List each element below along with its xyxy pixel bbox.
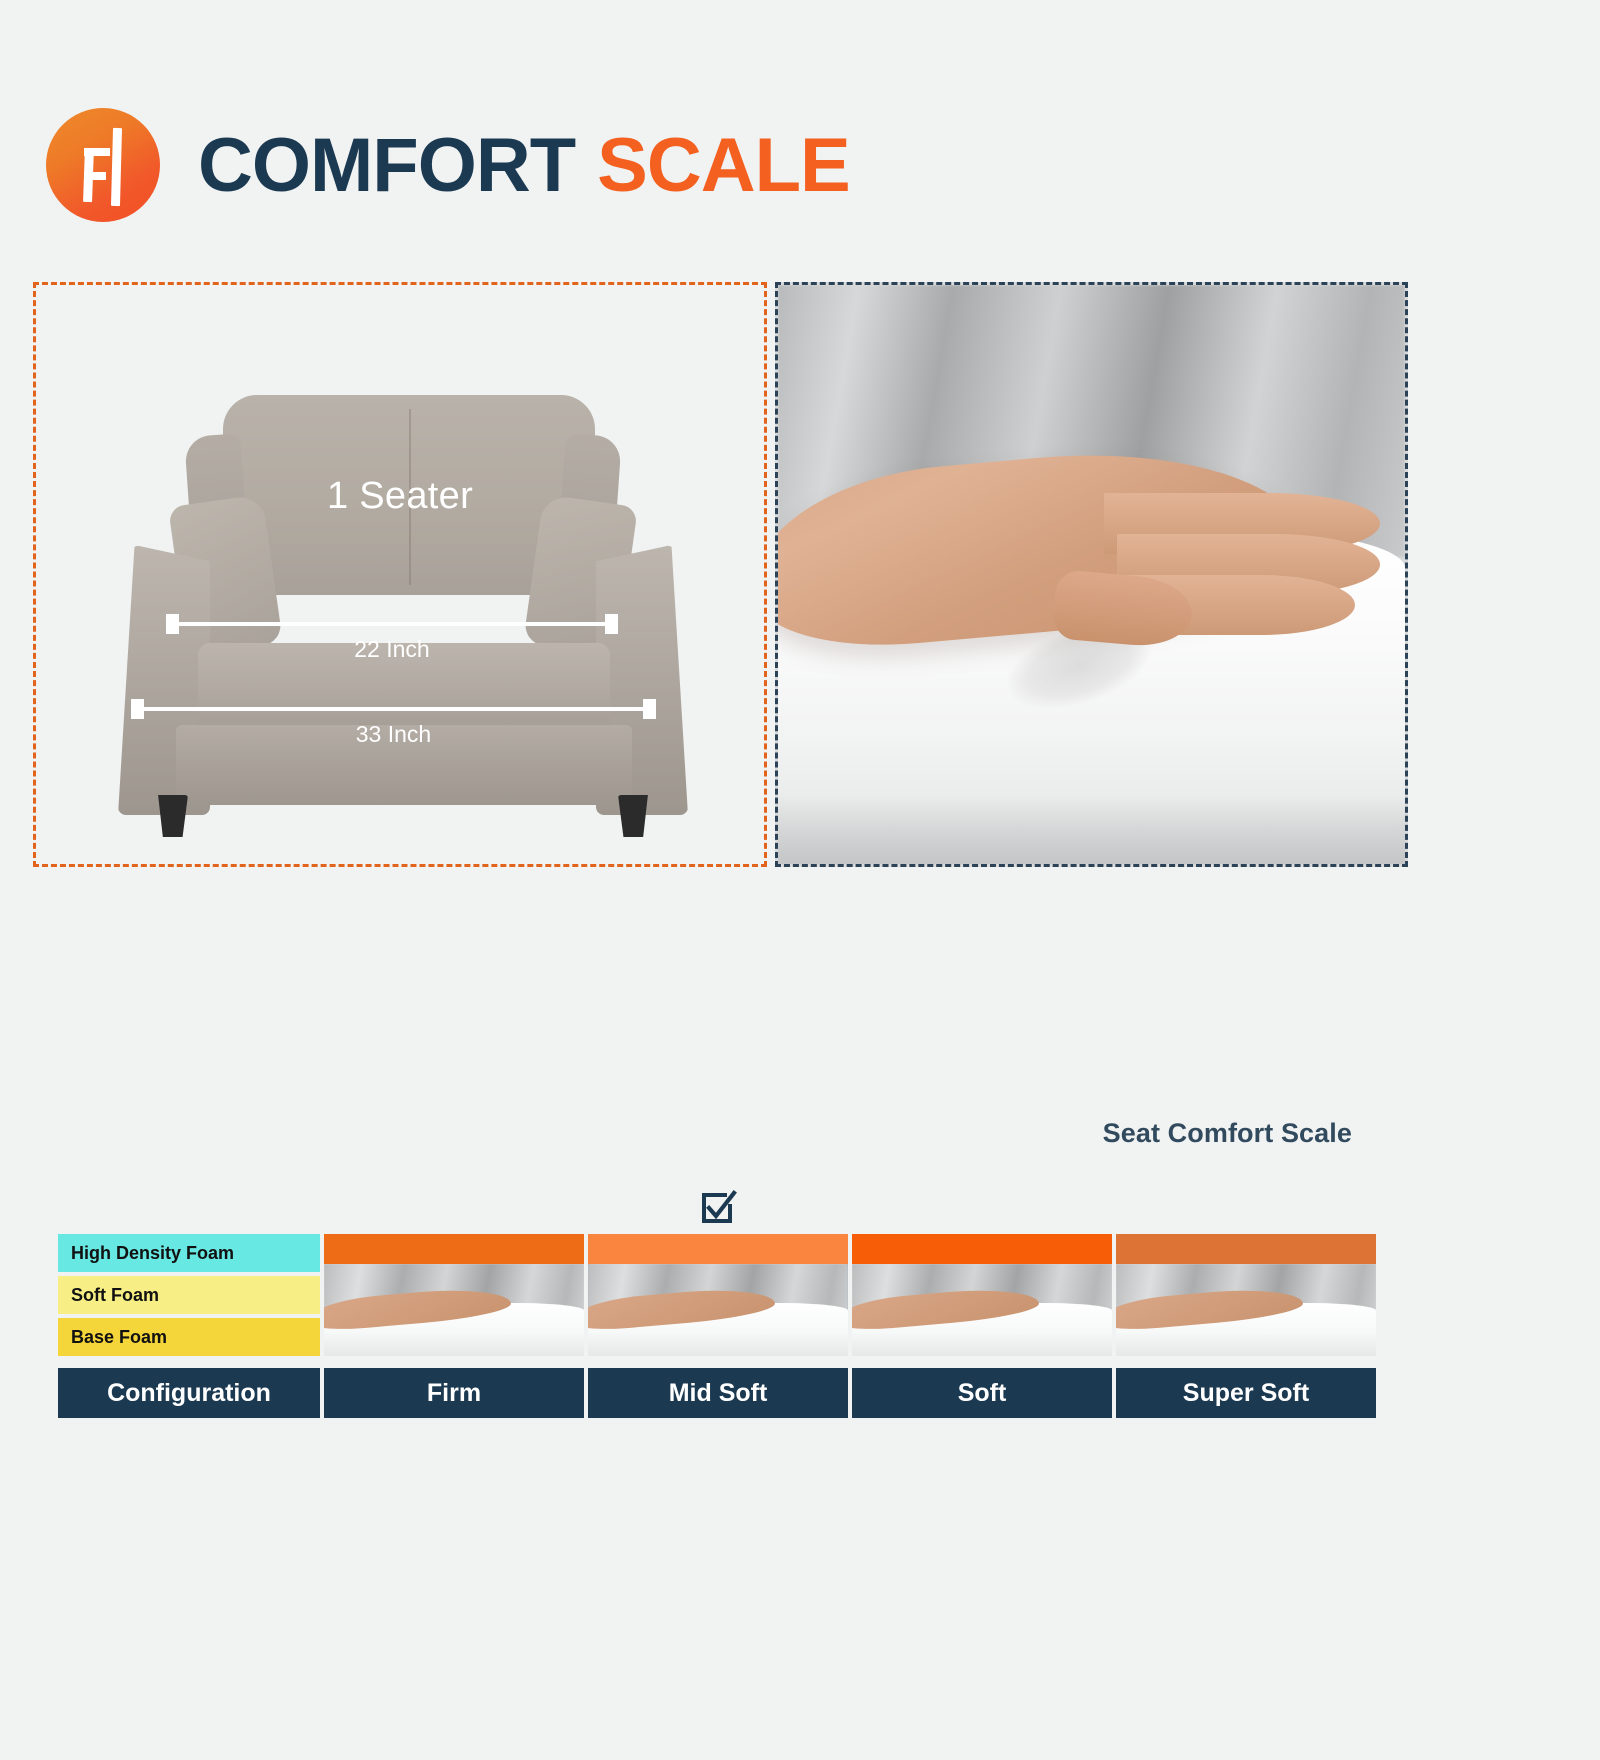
legend-item-base-foam: Base Foam — [58, 1318, 320, 1356]
hand-pressing-foam-image — [778, 285, 1405, 864]
seater-label: 1 Seater — [36, 475, 764, 518]
option-band-soft — [852, 1234, 1112, 1264]
comfort-scale-table: High Density Foam Soft Foam Base Foam — [58, 1234, 1376, 1418]
option-band-mid-soft — [588, 1234, 848, 1264]
option-labels: Firm Mid Soft Soft Super Soft — [324, 1368, 1376, 1418]
option-band-super-soft — [1116, 1234, 1376, 1264]
legend-item-high-density-foam: High Density Foam — [58, 1234, 320, 1272]
foam-press-photo-panel — [775, 282, 1408, 867]
page-title-accent: SCALE — [597, 122, 850, 209]
brand-logo-icon — [46, 108, 160, 222]
foam-thumbnail-mid-soft — [588, 1264, 848, 1356]
checked-checkbox-icon — [697, 1188, 737, 1228]
seat-comfort-scale-title: Seat Comfort Scale — [1103, 1118, 1352, 1149]
option-label-mid-soft[interactable]: Mid Soft — [588, 1368, 848, 1418]
comfort-scale-label-row: Configuration Firm Mid Soft Soft Super S… — [58, 1368, 1376, 1418]
legend-label: Base Foam — [71, 1327, 167, 1348]
legend-label: High Density Foam — [71, 1243, 234, 1264]
foam-option-card-firm[interactable] — [324, 1234, 584, 1356]
foam-option-card-super-soft[interactable] — [1116, 1234, 1376, 1356]
option-label-super-soft[interactable]: Super Soft — [1116, 1368, 1376, 1418]
page-title-primary: COMFORT — [198, 122, 575, 209]
width-dimension-label: 33 Inch — [131, 721, 656, 748]
legend-item-soft-foam: Soft Foam — [58, 1276, 320, 1314]
comfort-scale-page: COMFORT SCALE 1 Seater — [0, 0, 1600, 1760]
foam-option-cards — [324, 1234, 1376, 1356]
foam-option-card-mid-soft[interactable] — [588, 1234, 848, 1356]
configuration-header: Configuration — [58, 1368, 320, 1418]
legend-label: Soft Foam — [71, 1285, 159, 1306]
foam-thumbnail-soft — [852, 1264, 1112, 1356]
page-header: COMFORT SCALE — [46, 108, 850, 222]
sofa-dimension-panel: 1 Seater 22 Inch 33 Inch — [33, 282, 767, 867]
option-label-soft[interactable]: Soft — [852, 1368, 1112, 1418]
depth-dimension-label: 22 Inch — [166, 636, 618, 663]
foam-option-card-soft[interactable] — [852, 1234, 1112, 1356]
comfort-scale-body-row: High Density Foam Soft Foam Base Foam — [58, 1234, 1376, 1356]
foam-thumbnail-super-soft — [1116, 1264, 1376, 1356]
option-band-firm — [324, 1234, 584, 1264]
page-title: COMFORT SCALE — [198, 122, 850, 209]
option-label-firm[interactable]: Firm — [324, 1368, 584, 1418]
sofa-illustration: 1 Seater 22 Inch 33 Inch — [36, 285, 764, 864]
foam-legend-column: High Density Foam Soft Foam Base Foam — [58, 1234, 320, 1356]
foam-thumbnail-firm — [324, 1264, 584, 1356]
